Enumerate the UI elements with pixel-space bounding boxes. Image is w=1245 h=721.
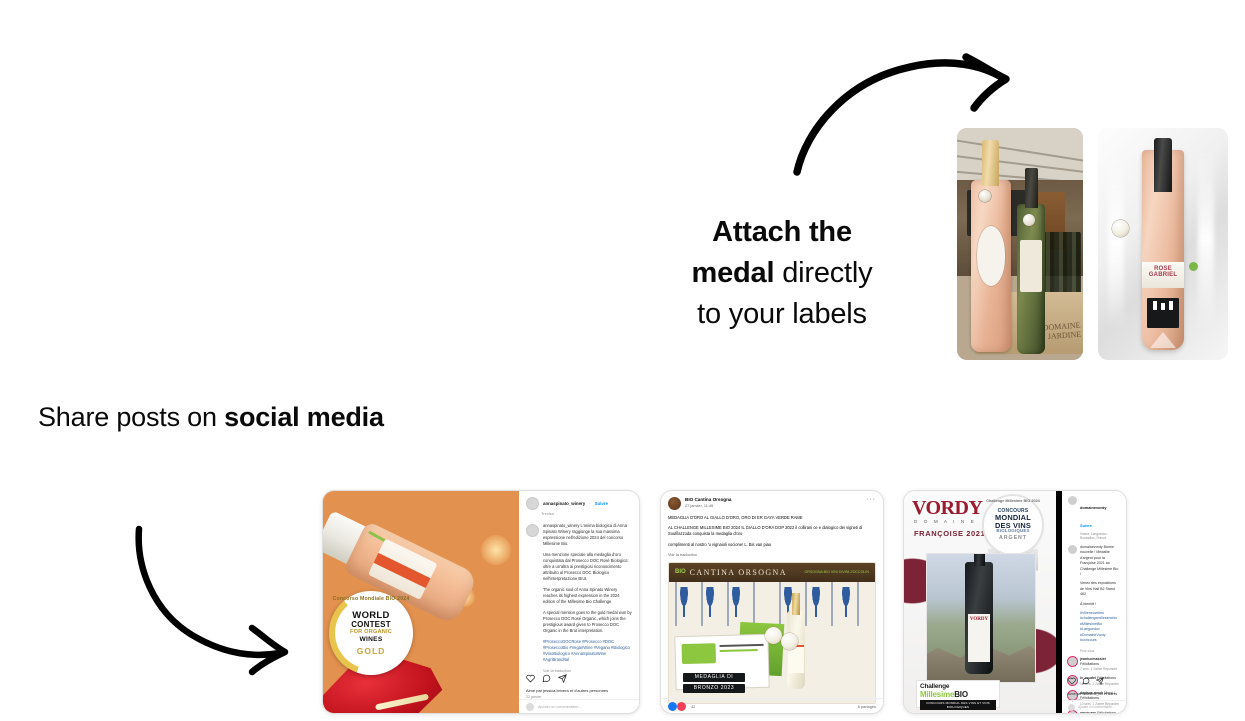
rose-wine-bottle (971, 180, 1011, 352)
post-header: annaspinato_winery · Suivre (526, 497, 632, 510)
post-text: MEDAGLIA D'ORO AL GIALLO D'ORO, ORO DI E… (668, 515, 876, 548)
studio-light-streak (1198, 146, 1214, 332)
share-headline-plain: Share posts on (38, 402, 224, 432)
heart-icon[interactable] (1068, 677, 1076, 685)
arrow-to-social-posts (130, 520, 300, 670)
post-sidebar: domainevordy · Suivre Vinera, Languedoc-… (1056, 491, 1126, 713)
banner-bio-label: BIO (675, 569, 686, 575)
facebook-post-cantina-orsogna[interactable]: BIO Cantina Orsogna 27 janvier, 11:46 ··… (660, 490, 884, 714)
bottle-neck (1025, 168, 1038, 208)
medal-arc-text: Challenge Millesime BIO 2024 (984, 499, 1042, 503)
vine-motif-icon (677, 587, 691, 617)
poster-cuvee: FRANÇOISE 2021 (914, 529, 985, 538)
bottle-label-brand: VORDY (968, 617, 990, 622)
medal-line1: WORLD (352, 611, 389, 621)
location-label: Vinera, Languedoc-Roussillon, France (1080, 532, 1120, 540)
award-plate: BRONZO 2023 (683, 684, 745, 693)
attach-headline-line2-bold: medal (692, 257, 775, 289)
vine-motif-icon (839, 587, 853, 617)
logo-line2-black: BIO (954, 690, 968, 699)
post-image: BIO CANTINA ORSOGNA ORSOGNA BIO VINI DIV… (668, 562, 876, 704)
post-engagement-bar: 42 6 partages (661, 698, 883, 713)
post-header: BIO Cantina Orsogna 27 janvier, 11:46 ··… (668, 497, 876, 510)
challenge-millesime-bio-logo: Challenge MillesimeBIO CONCOURS MONDIAL … (916, 680, 1000, 708)
share-posts-headline: Share posts on social media (38, 398, 384, 436)
rose-wine-bottle: ROSE GABRIEL (1142, 150, 1184, 350)
crate-text: DOMAINE JARDINE (1043, 321, 1082, 342)
comment-icon[interactable] (1082, 677, 1090, 685)
comment-box[interactable]: Ajouter un commentaire... (519, 699, 639, 713)
banner-name: CANTINA ORSOGNA (690, 568, 787, 577)
medal-award: GOLD (357, 647, 386, 656)
bottle-label-band: ROSE GABRIEL (1142, 262, 1184, 288)
post-caption: annaspinato_winery L'anima biologica di … (543, 523, 632, 674)
avatar (526, 703, 534, 711)
poster-domaine: D O M A I N E (914, 519, 976, 524)
medal-arc-text: Concorso Mondiale BIO 2024 (329, 596, 413, 602)
medal-line4: BIOLOGIQUES (996, 529, 1029, 534)
comments-section-label: Pour vous (1080, 649, 1120, 653)
post-actions (526, 674, 567, 683)
like-reaction-icon[interactable] (668, 702, 677, 711)
likes-label: Aimé par jessica.brivera et d'autres per… (526, 688, 608, 693)
bottle-label (1020, 240, 1042, 292)
avatar (1068, 496, 1077, 505)
attach-headline-line3: to your labels (697, 298, 867, 330)
post-sidebar: annaspinato_winery · Suivre Treviso anna… (519, 491, 639, 713)
comment-input-placeholder[interactable]: Ajouter un commentaire... (538, 705, 581, 709)
instagram-post-gold-medal[interactable]: Concorso Mondiale BIO 2024 WORLD CONTEST… (322, 490, 640, 714)
location-label: Treviso (541, 511, 632, 516)
studio-light-streak (1108, 146, 1124, 332)
award-plate: MEDAGLIA DI (683, 673, 745, 682)
heart-icon[interactable] (526, 674, 535, 683)
medal-sticker-icon (1112, 220, 1129, 237)
logo-line3: CONCOURS MONDIAL DES VINS ET VINS BIOLOG… (920, 700, 996, 710)
vine-motif-icon (729, 587, 743, 617)
bottle-label-text: ROSE GABRIEL (1142, 266, 1184, 278)
bottle-landscape-photo: VORDY (926, 553, 1036, 683)
avatar (1068, 545, 1077, 554)
list-item: jeanlucmassier Félicitations 7 sem. 1 J'… (1068, 657, 1120, 672)
caption-paragraph: À bientôt ! (1080, 602, 1120, 607)
avatar (526, 497, 539, 510)
image-banner: BIO CANTINA ORSOGNA ORSOGNA BIO VINI DIV… (669, 563, 875, 582)
attach-headline-line1: Attach the (712, 216, 852, 248)
avatar (526, 524, 539, 537)
post-actions (1068, 677, 1104, 685)
green-wine-bottle (1017, 204, 1045, 354)
translate-link[interactable]: Voir la traduction (668, 552, 876, 557)
comment-box[interactable]: Ajouter un commentaire... (1062, 700, 1126, 713)
studio-rose-bottle-photo: ROSE GABRIEL (1098, 128, 1228, 360)
caption-hashtags[interactable]: #ProseccoDOCRose #Prosecco #DOC #Prosecc… (543, 639, 632, 663)
username[interactable]: annaspinato_winery (543, 501, 585, 506)
bokeh-light (481, 535, 511, 565)
avatar (668, 497, 681, 510)
castle-icon (1153, 301, 1173, 310)
share-icon[interactable] (1096, 677, 1104, 685)
vine-motif-icon (703, 587, 717, 617)
attach-headline-line2-rest: directly (774, 257, 872, 289)
username[interactable]: domainevordy (1080, 505, 1107, 510)
post-date: 27 janvier, 11:46 (685, 503, 731, 508)
medal-sticker-icon (1023, 214, 1035, 226)
comment-input-placeholder[interactable]: Ajouter un commentaire... (1078, 705, 1115, 709)
comment-meta: 7 sem. 1 J'aime Répondre (1080, 667, 1120, 671)
medal-badge-icon (765, 627, 782, 644)
post-text-paragraph: AL CHALLENGE MILLESIME BIO 2024 IL GIALL… (668, 525, 876, 537)
page-name[interactable]: BIO Cantina Orsogna (685, 497, 731, 502)
bottle-label: VORDY (968, 614, 990, 662)
post-image: VORDY D O M A I N E FRANÇOISE 2021 Chall… (904, 491, 1056, 713)
caption-hashtags[interactable]: #Villeneuvelles #challengemillesimebio #… (1080, 611, 1120, 643)
vine-motif-icon (809, 587, 823, 617)
cellar-bottles-photo: Grands RUS DOMAINE JARDINE (957, 128, 1083, 360)
follow-button[interactable]: Suivre (595, 501, 608, 506)
bottle-oval-label (977, 226, 1005, 286)
caption-paragraph: domainevordy Bonne nouvelle ! Médaille d… (1080, 545, 1120, 577)
post-text-paragraph: complimenti al nostro 'u vignaioli vocio… (668, 542, 876, 548)
medal-line2: CONTEST (351, 621, 391, 629)
bottle-neck (792, 593, 800, 615)
avatar (1068, 704, 1075, 711)
gold-medal-badge: Concorso Mondiale BIO 2024 WORLD CONTEST… (329, 591, 413, 675)
avatar (1068, 657, 1077, 666)
white-wine-bottle (787, 611, 805, 689)
medal-award: ARGENT (999, 536, 1027, 541)
caption-paragraph: The organic soul of Anna Spinato Winery … (543, 587, 632, 605)
share-icon[interactable] (558, 674, 567, 683)
logo-line1: Challenge (920, 683, 996, 690)
post-image: Concorso Mondiale BIO 2024 WORLD CONTEST… (323, 491, 519, 713)
caption-paragraph: Una menzione speciale alla medaglia d'or… (543, 552, 632, 582)
medal-line4: WINES (359, 637, 382, 644)
follow-button[interactable]: Suivre (1080, 523, 1092, 528)
medal-badge-icon (781, 633, 798, 650)
red-wine-bottle: VORDY (965, 562, 993, 674)
love-reaction-icon[interactable] (677, 702, 686, 711)
bottle-punt (1150, 332, 1176, 348)
millesime-bio-logo (682, 643, 717, 664)
banner-right-text: ORSOGNA BIO VINI DIVINI ZOCCOLIN (805, 570, 870, 574)
bottle-estate-label (1147, 298, 1179, 328)
attach-medal-headline: Attach the medal directly to your labels (636, 212, 928, 335)
reaction-count: 42 (691, 704, 695, 709)
more-options-icon[interactable]: ··· (866, 497, 876, 503)
caption-paragraph: Venez des expositions de Vins Hall B2 St… (1080, 581, 1120, 597)
medal-sticker-icon (979, 190, 991, 202)
bottle-neck (1154, 138, 1172, 192)
bottle-neck (974, 553, 985, 566)
caption-paragraph: annaspinato_winery L'anima biologica di … (543, 523, 632, 547)
post-caption: domainevordy Bonne nouvelle ! Médaille d… (1080, 545, 1120, 644)
silver-medal-badge: Challenge Millesime BIO 2024 CONCOURS MO… (984, 496, 1042, 554)
logo-line2-green: Millesime (920, 690, 954, 699)
comment-text: Félicitations (1080, 662, 1099, 666)
caption-paragraph: A special mention goes to the gold medal… (543, 610, 632, 634)
bottle-neck (982, 140, 999, 186)
comment-username: jeanlucmassier (1080, 657, 1106, 661)
share-count[interactable]: 6 partages (858, 704, 876, 709)
instagram-post-vordy-silver[interactable]: VORDY D O M A I N E FRANÇOISE 2021 Chall… (903, 490, 1127, 714)
post-text-paragraph: MEDAGLIA D'ORO AL GIALLO D'ORO, ORO DI E… (668, 515, 876, 521)
share-headline-bold: social media (224, 402, 384, 432)
organic-leaf-icon (1189, 262, 1198, 271)
post-header: domainevordy · Suivre Vinera, Languedoc-… (1068, 496, 1120, 540)
comment-icon[interactable] (542, 674, 551, 683)
likes-label: Aimé par millesime_bio et autres (1068, 692, 1117, 696)
